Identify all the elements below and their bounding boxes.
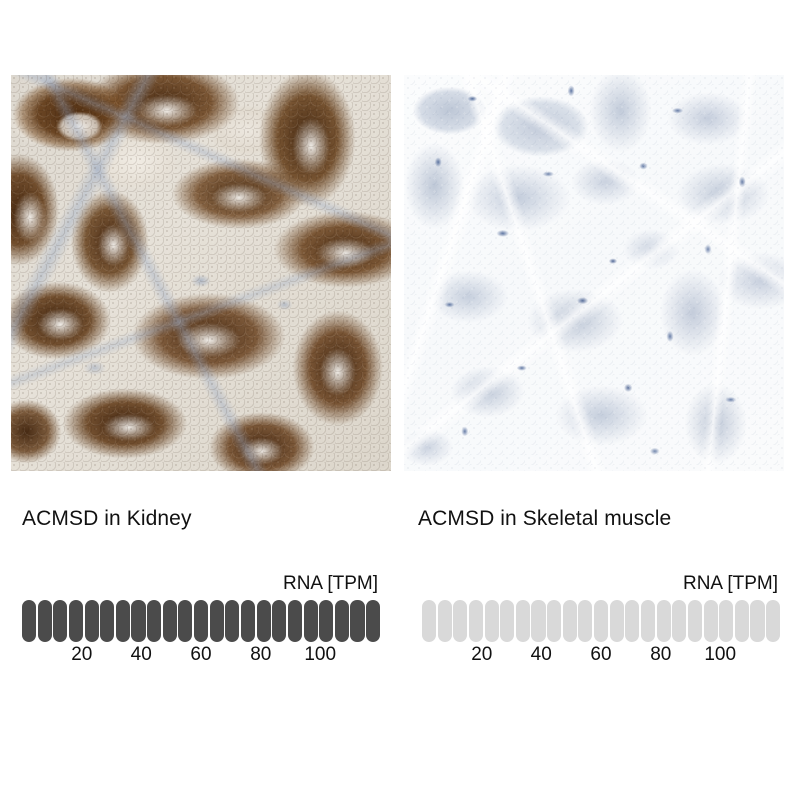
gauge-tick-60: 60 xyxy=(190,644,211,666)
gauge-pill xyxy=(735,600,749,642)
kidney-texture-grain xyxy=(11,75,391,471)
gauge-pill xyxy=(304,600,318,642)
gauge-tick-20: 20 xyxy=(71,644,92,666)
gauge-pill xyxy=(38,600,52,642)
gauge-pill xyxy=(85,600,99,642)
gauge-pill xyxy=(688,600,702,642)
gauge-pill xyxy=(594,600,608,642)
kidney-immunohistochemistry-micrograph[interactable] xyxy=(11,75,391,471)
gauge-pill xyxy=(500,600,514,642)
gauge-pill xyxy=(257,600,271,642)
skeletal-muscle-rna-gauge: RNA [TPM] xyxy=(422,572,780,668)
gauge-pill xyxy=(272,600,286,642)
gauge-tick-80: 80 xyxy=(250,644,271,666)
gauge-pill xyxy=(288,600,302,642)
skeletal-muscle-caption: ACMSD in Skeletal muscle xyxy=(418,506,671,532)
muscle-texture-grain xyxy=(404,75,784,471)
gauge-pill xyxy=(210,600,224,642)
gauge-pill xyxy=(516,600,530,642)
gauge-pill xyxy=(69,600,83,642)
gauge-pill xyxy=(485,600,499,642)
gauge-pill xyxy=(22,600,36,642)
gauge-pill xyxy=(547,600,561,642)
gauge-pill xyxy=(319,600,333,642)
gauge-pill xyxy=(672,600,686,642)
gauge-pill xyxy=(750,600,764,642)
skeletal-muscle-rna-unit-label: RNA [TPM] xyxy=(422,572,780,595)
gauge-pill xyxy=(719,600,733,642)
gauge-pill xyxy=(422,600,436,642)
gauge-pill xyxy=(563,600,577,642)
gauge-pill xyxy=(578,600,592,642)
skeletal-muscle-gauge-tick-labels: 20 40 60 80 100 xyxy=(422,644,780,668)
gauge-pill xyxy=(704,600,718,642)
gauge-pill xyxy=(531,600,545,642)
kidney-rna-unit-label: RNA [TPM] xyxy=(22,572,380,595)
gauge-tick-20: 20 xyxy=(471,644,492,666)
gauge-tick-40: 40 xyxy=(531,644,552,666)
panel-skeletal-muscle: ACMSD in Skeletal muscle RNA [TPM] xyxy=(400,0,800,800)
kidney-rna-gauge: RNA [TPM] xyxy=(22,572,380,668)
gauge-tick-80: 80 xyxy=(650,644,671,666)
gauge-pill xyxy=(225,600,239,642)
skeletal-muscle-gauge-track[interactable] xyxy=(422,600,780,642)
gauge-pill xyxy=(610,600,624,642)
kidney-caption: ACMSD in Kidney xyxy=(22,506,192,532)
kidney-gauge-tick-labels: 20 40 60 80 100 xyxy=(22,644,380,668)
panel-kidney: ACMSD in Kidney RNA [TPM] xyxy=(0,0,400,800)
gauge-pill xyxy=(766,600,780,642)
gauge-pill xyxy=(163,600,177,642)
figure-board: ACMSD in Kidney RNA [TPM] xyxy=(0,0,800,800)
gauge-pill xyxy=(350,600,364,642)
gauge-pill xyxy=(241,600,255,642)
gauge-pill xyxy=(147,600,161,642)
gauge-pill xyxy=(116,600,130,642)
gauge-pill xyxy=(178,600,192,642)
gauge-tick-60: 60 xyxy=(590,644,611,666)
gauge-pill xyxy=(100,600,114,642)
gauge-pill xyxy=(625,600,639,642)
gauge-tick-100: 100 xyxy=(304,644,336,666)
gauge-pill xyxy=(366,600,380,642)
gauge-pill xyxy=(131,600,145,642)
gauge-pill xyxy=(453,600,467,642)
gauge-pill xyxy=(53,600,67,642)
kidney-gauge-track[interactable] xyxy=(22,600,380,642)
gauge-pill xyxy=(335,600,349,642)
skeletal-muscle-immunohistochemistry-micrograph[interactable] xyxy=(404,75,784,471)
gauge-tick-100: 100 xyxy=(704,644,736,666)
gauge-pill xyxy=(641,600,655,642)
gauge-tick-40: 40 xyxy=(131,644,152,666)
gauge-pill xyxy=(194,600,208,642)
gauge-pill xyxy=(469,600,483,642)
gauge-pill xyxy=(438,600,452,642)
gauge-pill xyxy=(657,600,671,642)
